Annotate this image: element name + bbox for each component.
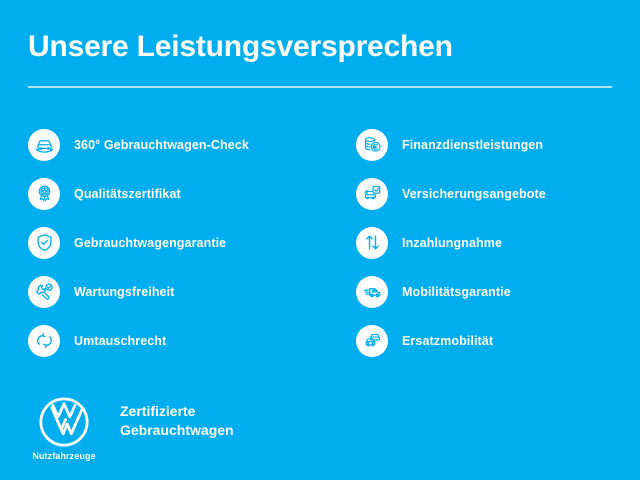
benefit-label: Inzahlungnahme xyxy=(402,236,502,250)
brand-subtitle: Nutzfahrzeuge xyxy=(28,451,100,461)
benefit-label: Qualitätszertifikat xyxy=(74,187,181,201)
benefit-item: Finanzdienstleistungen xyxy=(356,120,636,169)
benefits-column-left: 360° Gebrauchtwagen-Check Qualitätszerti… xyxy=(28,120,348,365)
brand-block: Nutzfahrzeuge Zertifizierte Gebrauchtwag… xyxy=(28,396,234,461)
benefit-item: Wartungsfreiheit xyxy=(28,267,348,316)
benefit-item: Qualitätszertifikat xyxy=(28,169,348,218)
brand-headline: Zertifizierte Gebrauchtwagen xyxy=(120,402,234,440)
brand-headline-line1: Zertifizierte xyxy=(120,402,234,421)
benefit-item: Umtauschrecht xyxy=(28,316,348,365)
title-divider xyxy=(28,86,612,88)
award-rosette-icon xyxy=(28,178,60,210)
benefit-label: 360° Gebrauchtwagen-Check xyxy=(74,138,249,152)
exchange-arrows-icon xyxy=(28,325,60,357)
slide-root: Unsere Leistungsversprechen 360° Ge xyxy=(0,0,640,480)
benefit-label: Mobilitätsgarantie xyxy=(402,285,511,299)
brand-headline-line2: Gebrauchtwagen xyxy=(120,421,234,440)
benefit-label: Wartungsfreiheit xyxy=(74,285,174,299)
benefit-label: Versicherungsangebote xyxy=(402,187,546,201)
benefit-item: Gebrauchtwagengarantie xyxy=(28,218,348,267)
benefit-item: 360° Gebrauchtwagen-Check xyxy=(28,120,348,169)
vw-logo-icon xyxy=(38,396,90,448)
benefit-label: Umtauschrecht xyxy=(74,334,166,348)
vw-logo-group: Nutzfahrzeuge xyxy=(28,396,100,461)
benefit-label: Gebrauchtwagengarantie xyxy=(74,236,226,250)
benefit-item: Inzahlungnahme xyxy=(356,218,636,267)
wrench-check-icon xyxy=(28,276,60,308)
coins-euro-icon xyxy=(356,129,388,161)
van-motion-icon xyxy=(356,276,388,308)
benefit-item: Ersatzmobilität xyxy=(356,316,636,365)
up-down-arrows-icon xyxy=(356,227,388,259)
page-title: Unsere Leistungsversprechen xyxy=(28,30,453,63)
benefit-item: Mobilitätsgarantie xyxy=(356,267,636,316)
car-360-check-icon xyxy=(28,129,60,161)
two-cars-icon xyxy=(356,325,388,357)
car-document-check-icon xyxy=(356,178,388,210)
benefit-label: Ersatzmobilität xyxy=(402,334,493,348)
benefit-item: Versicherungsangebote xyxy=(356,169,636,218)
benefits-column-right: Finanzdienstleistungen Versicherungsange… xyxy=(356,120,636,365)
shield-check-icon xyxy=(28,227,60,259)
benefit-label: Finanzdienstleistungen xyxy=(402,138,543,152)
